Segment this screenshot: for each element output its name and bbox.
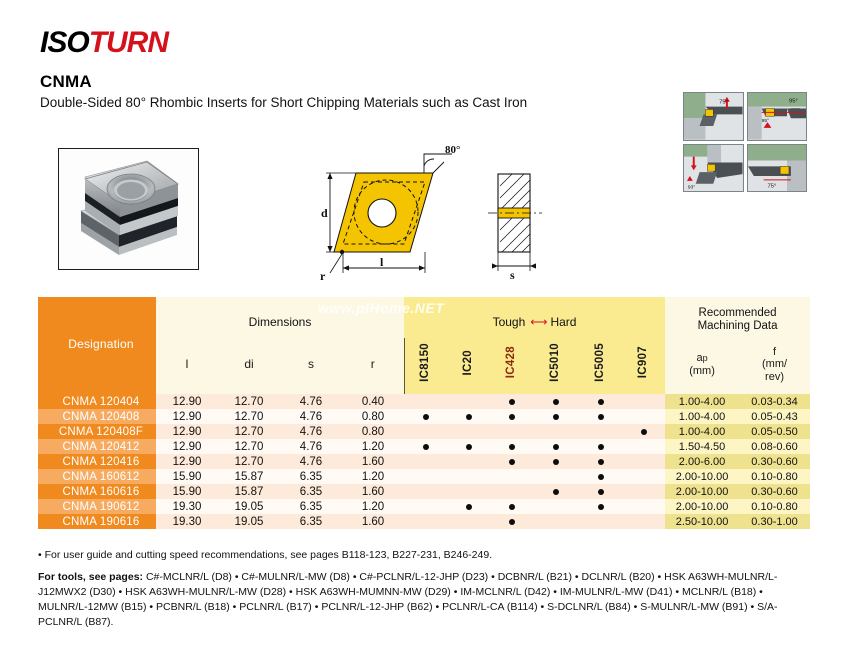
grade-available-dot: [598, 489, 604, 495]
cell-r: 1.20: [342, 499, 404, 514]
cell-grade-ic5010: [533, 454, 578, 469]
svg-text:95°: 95°: [788, 99, 797, 105]
cell-s: 4.76: [280, 424, 342, 439]
cell-di: 12.70: [218, 394, 280, 409]
cell-di: 15.87: [218, 469, 280, 484]
cell-grade-ic907: [623, 424, 665, 439]
cell-grade-ic428: [490, 439, 533, 454]
svg-text:95°: 95°: [761, 118, 768, 124]
cell-di: 15.87: [218, 484, 280, 499]
cell-l: 12.90: [156, 439, 218, 454]
grade-available-dot: [598, 474, 604, 480]
cell-f: 0.30-1.00: [739, 514, 810, 529]
footnote-tools-label: For tools, see pages:: [38, 571, 143, 583]
header-grade-ic428: IC428: [490, 338, 533, 394]
footnote-tools-text: C#-MCLNR/L (D8) • C#-MULNR/L-MW (D8) • C…: [38, 571, 778, 628]
logo-text-iso: ISO: [40, 26, 89, 59]
cell-grade-ic5010: [533, 394, 578, 409]
grade-available-dot: [641, 429, 647, 435]
table-row: CNMA 16061215.9015.876.351.202.00-10.000…: [38, 469, 810, 484]
cell-designation: CNMA 190616: [38, 514, 156, 529]
f-symbol: f: [739, 346, 810, 358]
cell-designation: CNMA 160612: [38, 469, 156, 484]
footnotes: • For user guide and cutting speed recom…: [38, 548, 813, 630]
specification-table: Designation Dimensions Tough ⟷ Hard Reco…: [38, 297, 810, 529]
table-row: CNMA 12041212.9012.704.761.201.50-4.500.…: [38, 439, 810, 454]
grade-available-dot: [509, 399, 515, 405]
cell-r: 0.80: [342, 409, 404, 424]
cell-grade-ic20: [447, 394, 490, 409]
cell-grade-ic5005: [578, 514, 623, 529]
cell-grade-ic428: [490, 424, 533, 439]
cell-grade-ic5005: [578, 439, 623, 454]
cell-grade-ic5005: [578, 409, 623, 424]
cell-s: 4.76: [280, 394, 342, 409]
ap-unit: (mm): [665, 365, 739, 377]
header-group-recommended-machining: Recommended Machining Data: [665, 297, 810, 338]
table-body: CNMA 12040412.9012.704.760.401.00-4.000.…: [38, 394, 810, 529]
cell-grade-ic907: [623, 484, 665, 499]
grade-available-dot: [466, 444, 472, 450]
tough-hard-arrow-icon: ⟷: [530, 315, 545, 329]
grade-available-dot: [466, 504, 472, 510]
catalog-page: ISOTURN CNMA Double-Sided 80° Rhombic In…: [0, 0, 842, 645]
holder-95-deg-external-icon: 95° 95°: [747, 92, 808, 141]
grade-available-dot: [553, 399, 559, 405]
cell-grade-ic20: [447, 439, 490, 454]
cell-r: 1.60: [342, 484, 404, 499]
holder-face-turning-icon: 93°: [683, 144, 744, 193]
footnote-tools: For tools, see pages: C#-MCLNR/L (D8) • …: [38, 570, 813, 630]
header-col-di: di: [218, 338, 280, 394]
svg-text:80°: 80°: [445, 144, 460, 156]
cell-grade-ic428: [490, 394, 533, 409]
cell-grade-ic428: [490, 499, 533, 514]
cell-grade-ic5010: [533, 469, 578, 484]
cell-l: 15.90: [156, 469, 218, 484]
svg-text:s: s: [510, 268, 515, 282]
table-row: CNMA 19061619.3019.056.351.602.50-10.000…: [38, 514, 810, 529]
grade-available-dot: [553, 459, 559, 465]
page-subtitle: Double-Sided 80° Rhombic Inserts for Sho…: [40, 95, 527, 111]
cell-grade-ic5010: [533, 439, 578, 454]
ap-subscript: p: [703, 353, 708, 363]
cell-grade-ic907: [623, 409, 665, 424]
grade-available-dot: [509, 414, 515, 420]
grade-available-dot: [553, 444, 559, 450]
table-row: CNMA 12041612.9012.704.761.602.00-6.000.…: [38, 454, 810, 469]
cell-grade-ic20: [447, 484, 490, 499]
header-col-r: r: [342, 338, 404, 394]
grade-available-dot: [598, 444, 604, 450]
cell-grade-ic907: [623, 394, 665, 409]
table-row: CNMA 12040412.9012.704.760.401.00-4.000.…: [38, 394, 810, 409]
cell-l: 12.90: [156, 409, 218, 424]
cell-l: 19.30: [156, 499, 218, 514]
cell-grade-ic8150: [404, 454, 447, 469]
table-row: CNMA 19061219.3019.056.351.202.00-10.000…: [38, 499, 810, 514]
cell-ap: 1.50-4.50: [665, 439, 739, 454]
cell-grade-ic907: [623, 514, 665, 529]
cell-grade-ic20: [447, 514, 490, 529]
header-group-tough-hard: Tough ⟷ Hard: [404, 297, 665, 338]
grade-available-dot: [553, 489, 559, 495]
cell-grade-ic5005: [578, 394, 623, 409]
cell-ap: 2.00-6.00: [665, 454, 739, 469]
cell-grade-ic5005: [578, 484, 623, 499]
cell-designation: CNMA 190612: [38, 499, 156, 514]
svg-text:93°: 93°: [688, 184, 695, 190]
cell-di: 19.05: [218, 514, 280, 529]
cell-grade-ic8150: [404, 514, 447, 529]
label-recommended: Recommended: [665, 307, 810, 320]
cell-grade-ic8150: [404, 409, 447, 424]
cell-r: 0.40: [342, 394, 404, 409]
cell-l: 12.90: [156, 454, 218, 469]
cell-r: 1.20: [342, 439, 404, 454]
svg-text:75°: 75°: [719, 100, 728, 106]
svg-text:r: r: [320, 269, 326, 283]
cell-s: 6.35: [280, 484, 342, 499]
label-hard: Hard: [550, 315, 576, 329]
cell-grade-ic8150: [404, 424, 447, 439]
cell-s: 6.35: [280, 514, 342, 529]
cell-grade-ic907: [623, 469, 665, 484]
grade-available-dot: [509, 444, 515, 450]
header-grade-ic8150: IC8150: [404, 338, 447, 394]
cell-di: 12.70: [218, 454, 280, 469]
cell-grade-ic907: [623, 439, 665, 454]
f-unit-1: (mm/: [739, 358, 810, 370]
header-col-s: s: [280, 338, 342, 394]
cell-ap: 2.50-10.00: [665, 514, 739, 529]
cell-ap: 1.00-4.00: [665, 409, 739, 424]
cell-ap: 1.00-4.00: [665, 424, 739, 439]
cell-f: 0.08-0.60: [739, 439, 810, 454]
cell-di: 12.70: [218, 439, 280, 454]
cell-grade-ic907: [623, 499, 665, 514]
cell-designation: CNMA 160616: [38, 484, 156, 499]
header-group-dimensions: Dimensions: [156, 297, 404, 338]
cell-grade-ic428: [490, 484, 533, 499]
header-grade-ic5005: IC5005: [578, 338, 623, 394]
product-photo: [58, 148, 199, 270]
header-grade-ic20: IC20: [447, 338, 490, 394]
cell-di: 12.70: [218, 409, 280, 424]
cell-l: 15.90: [156, 484, 218, 499]
cell-di: 19.05: [218, 499, 280, 514]
cell-designation: CNMA 120408F: [38, 424, 156, 439]
svg-text:75°: 75°: [767, 183, 776, 189]
cell-di: 12.70: [218, 424, 280, 439]
cell-r: 1.20: [342, 469, 404, 484]
table-row: CNMA 16061615.9015.876.351.602.00-10.000…: [38, 484, 810, 499]
grade-available-dot: [509, 459, 515, 465]
cell-grade-ic20: [447, 499, 490, 514]
cell-s: 6.35: [280, 469, 342, 484]
grade-available-dot: [466, 414, 472, 420]
grade-available-dot: [423, 444, 429, 450]
table-row: CNMA 120408F12.9012.704.760.801.00-4.000…: [38, 424, 810, 439]
header-grade-ic907: IC907: [623, 338, 665, 394]
grade-available-dot: [423, 414, 429, 420]
header-designation: Designation: [38, 297, 156, 394]
cell-ap: 2.00-10.00: [665, 484, 739, 499]
cell-grade-ic20: [447, 469, 490, 484]
grade-available-dot: [598, 399, 604, 405]
cell-designation: CNMA 120408: [38, 409, 156, 424]
cell-grade-ic5010: [533, 484, 578, 499]
tool-holder-icon-grid: 75° 95° 95°: [683, 92, 807, 192]
header-col-f: f (mm/ rev): [739, 338, 810, 394]
footnote-user-guide: • For user guide and cutting speed recom…: [38, 548, 813, 563]
cell-s: 4.76: [280, 439, 342, 454]
cell-grade-ic8150: [404, 439, 447, 454]
cell-ap: 2.00-10.00: [665, 499, 739, 514]
cell-grade-ic5005: [578, 454, 623, 469]
cell-f: 0.10-0.80: [739, 469, 810, 484]
cell-f: 0.05-0.43: [739, 409, 810, 424]
cell-grade-ic20: [447, 454, 490, 469]
cell-designation: CNMA 120404: [38, 394, 156, 409]
cell-r: 0.80: [342, 424, 404, 439]
cell-designation: CNMA 120412: [38, 439, 156, 454]
cell-l: 19.30: [156, 514, 218, 529]
page-title: CNMA: [40, 72, 527, 92]
cell-grade-ic5010: [533, 499, 578, 514]
f-unit-2: rev): [739, 371, 810, 383]
cell-s: 4.76: [280, 454, 342, 469]
cell-grade-ic5010: [533, 514, 578, 529]
specification-table-wrapper: Designation Dimensions Tough ⟷ Hard Reco…: [38, 297, 810, 529]
isoturn-logo: ISOTURN: [40, 28, 168, 58]
cell-f: 0.30-0.60: [739, 484, 810, 499]
cell-grade-ic20: [447, 409, 490, 424]
holder-75-deg-facing-icon: 75°: [747, 144, 808, 193]
cell-grade-ic428: [490, 514, 533, 529]
label-machining-data: Machining Data: [665, 320, 810, 333]
cell-grade-ic5010: [533, 409, 578, 424]
cell-grade-ic5005: [578, 499, 623, 514]
grade-available-dot: [598, 459, 604, 465]
cell-f: 0.05-0.50: [739, 424, 810, 439]
cell-s: 4.76: [280, 409, 342, 424]
cell-l: 12.90: [156, 394, 218, 409]
cell-grade-ic428: [490, 409, 533, 424]
cell-f: 0.03-0.34: [739, 394, 810, 409]
cell-grade-ic5005: [578, 469, 623, 484]
grade-available-dot: [553, 414, 559, 420]
table-row: CNMA 12040812.9012.704.760.801.00-4.000.…: [38, 409, 810, 424]
cell-grade-ic20: [447, 424, 490, 439]
grade-available-dot: [509, 519, 515, 525]
table-group-header-row: Designation Dimensions Tough ⟷ Hard Reco…: [38, 297, 810, 338]
cell-f: 0.30-0.60: [739, 454, 810, 469]
cell-grade-ic907: [623, 454, 665, 469]
cell-s: 6.35: [280, 499, 342, 514]
cell-r: 1.60: [342, 454, 404, 469]
logo-text-turn: TURN: [89, 26, 168, 59]
cell-designation: CNMA 120416: [38, 454, 156, 469]
cell-grade-ic5010: [533, 424, 578, 439]
cell-ap: 2.00-10.00: [665, 469, 739, 484]
cell-l: 12.90: [156, 424, 218, 439]
cell-ap: 1.00-4.00: [665, 394, 739, 409]
svg-text:d: d: [321, 206, 328, 220]
cell-grade-ic428: [490, 454, 533, 469]
grade-available-dot: [598, 414, 604, 420]
cell-grade-ic8150: [404, 484, 447, 499]
label-tough: Tough: [493, 315, 526, 329]
insert-technical-drawing: d l r 80°: [312, 140, 560, 285]
title-block: CNMA Double-Sided 80° Rhombic Inserts fo…: [40, 72, 527, 111]
cell-f: 0.10-0.80: [739, 499, 810, 514]
cell-grade-ic8150: [404, 394, 447, 409]
cell-grade-ic5005: [578, 424, 623, 439]
header-col-l: l: [156, 338, 218, 394]
holder-75-deg-external-icon: 75°: [683, 92, 744, 141]
cell-grade-ic8150: [404, 469, 447, 484]
grade-available-dot: [598, 504, 604, 510]
header-grade-ic5010: IC5010: [533, 338, 578, 394]
cell-grade-ic428: [490, 469, 533, 484]
cell-r: 1.60: [342, 514, 404, 529]
cell-grade-ic8150: [404, 499, 447, 514]
header-col-ap: ap (mm): [665, 338, 739, 394]
grade-available-dot: [509, 504, 515, 510]
